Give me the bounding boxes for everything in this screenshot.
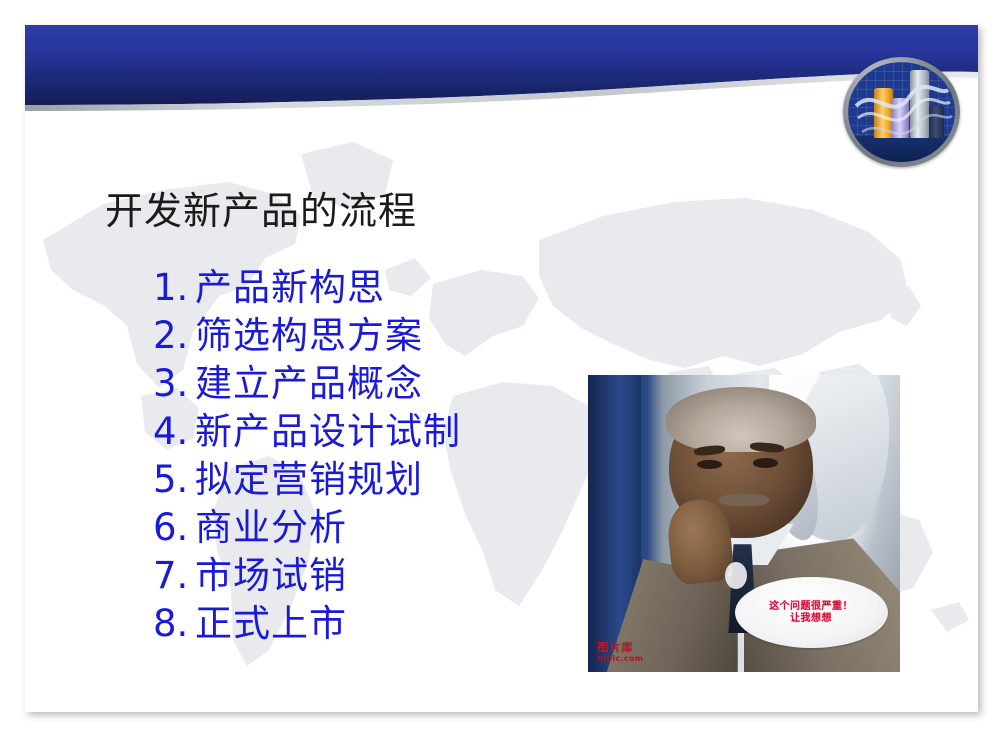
list-item: 5. 拟定营销规划 xyxy=(153,456,573,504)
list-item-number: 8. xyxy=(153,600,195,648)
list-item: 6. 商业分析 xyxy=(153,504,573,552)
list-item-number: 2. xyxy=(153,312,195,360)
list-item: 8. 正式上市 xyxy=(153,600,573,648)
list-item-label: 正式上市 xyxy=(195,600,347,648)
list-item-number: 6. xyxy=(153,504,195,552)
photo-eye xyxy=(753,458,778,468)
photo-moustache xyxy=(719,494,769,506)
list-item-label: 新产品设计试制 xyxy=(195,408,461,456)
bar-chart-emblem-icon xyxy=(843,57,960,167)
list-item: 3. 建立产品概念 xyxy=(153,360,573,408)
list-item-label: 拟定营销规划 xyxy=(195,456,423,504)
page-title: 开发新产品的流程 xyxy=(105,188,417,234)
photo-eye xyxy=(697,460,722,470)
list-item-label: 市场试销 xyxy=(195,552,347,600)
list-item-number: 4. xyxy=(153,408,195,456)
list-item-label: 建立产品概念 xyxy=(195,360,423,408)
header-banner xyxy=(25,25,978,145)
photo-watermark-url: nipic.com xyxy=(597,654,643,663)
list-item-label: 筛选构思方案 xyxy=(195,312,423,360)
thinking-man-photo: 这个问题很严重！ 让我想想 图片库 nipic.com xyxy=(588,375,900,672)
photo-watermark-logo: 图片库 xyxy=(597,642,633,654)
process-step-list: 1. 产品新构思 2. 筛选构思方案 3. 建立产品概念 4. 新产品设计试制 … xyxy=(153,264,573,648)
list-item-number: 5. xyxy=(153,456,195,504)
list-item: 7. 市场试销 xyxy=(153,552,573,600)
presentation-slide: 开发新产品的流程 1. 产品新构思 2. 筛选构思方案 3. 建立产品概念 4.… xyxy=(25,25,978,712)
speech-bubble: 这个问题很严重！ 让我想想 xyxy=(735,577,888,648)
list-item-label: 商业分析 xyxy=(195,504,347,552)
list-item-number: 7. xyxy=(153,552,195,600)
list-item-label: 产品新构思 xyxy=(195,264,385,312)
photo-hair xyxy=(666,387,816,452)
photo-watermark: 图片库 nipic.com xyxy=(597,642,643,663)
list-item: 1. 产品新构思 xyxy=(153,264,573,312)
list-item: 2. 筛选构思方案 xyxy=(153,312,573,360)
list-item-number: 3. xyxy=(153,360,195,408)
speech-bubble-tail xyxy=(725,562,747,589)
speech-bubble-line-2: 让我想想 xyxy=(790,613,832,625)
list-item: 4. 新产品设计试制 xyxy=(153,408,573,456)
list-item-number: 1. xyxy=(153,264,195,312)
speech-bubble-line-1: 这个问题很严重！ xyxy=(769,601,853,613)
